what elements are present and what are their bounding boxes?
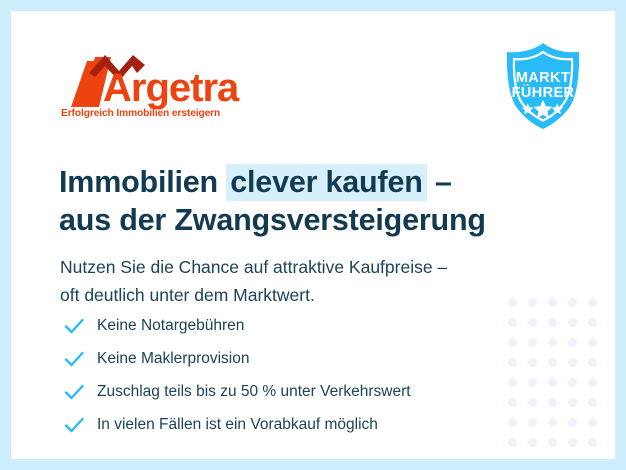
- decorative-dot: [508, 418, 517, 427]
- decorative-dot: [548, 438, 557, 447]
- decorative-dot: [528, 298, 537, 307]
- decorative-dot: [588, 398, 597, 407]
- decorative-dot: [548, 378, 557, 387]
- decorative-dot: [568, 398, 577, 407]
- decorative-dot: [508, 298, 517, 307]
- subheading: Nutzen Sie die Chance auf attraktive Kau…: [60, 253, 447, 309]
- decorative-dot: [568, 338, 577, 347]
- headline-text-after: –: [427, 165, 452, 199]
- headline-highlight: clever kaufen: [226, 164, 426, 201]
- decorative-dot: [568, 298, 577, 307]
- decorative-dot: [508, 358, 517, 367]
- benefit-item: Keine Notargebühren: [63, 309, 411, 342]
- decorative-dot: [588, 438, 597, 447]
- dot-grid-decoration: [503, 293, 603, 453]
- decorative-dot: [528, 438, 537, 447]
- decorative-dot: [568, 358, 577, 367]
- market-leader-badge[interactable]: MARKT FÜHRER: [497, 40, 589, 132]
- benefit-item: Zuschlag teils bis zu 50 % unter Verkehr…: [63, 375, 411, 408]
- headline: Immobilien clever kaufen – aus der Zwang…: [59, 163, 486, 239]
- decorative-dot: [508, 338, 517, 347]
- decorative-dot: [568, 318, 577, 327]
- benefit-item: Keine Maklerprovision: [63, 342, 411, 375]
- benefit-label: In vielen Fällen ist ein Vorabkauf mögli…: [97, 416, 378, 434]
- check-icon: [63, 315, 85, 337]
- decorative-dot: [548, 398, 557, 407]
- argetra-logo-icon: Argetra Erfolgreich Immobilien ersteiger…: [59, 49, 259, 121]
- decorative-dot: [588, 418, 597, 427]
- decorative-dot: [508, 438, 517, 447]
- svg-text:Argetra: Argetra: [103, 66, 240, 110]
- decorative-dot: [528, 378, 537, 387]
- decorative-dot: [528, 398, 537, 407]
- decorative-dot: [548, 338, 557, 347]
- decorative-dot: [588, 298, 597, 307]
- benefit-label: Keine Notargebühren: [97, 317, 244, 335]
- decorative-dot: [588, 378, 597, 387]
- decorative-dot: [568, 418, 577, 427]
- svg-text:Erfolgreich Immobilien ersteig: Erfolgreich Immobilien ersteigern: [61, 108, 220, 119]
- headline-line-2: aus der Zwangsversteigerung: [59, 201, 486, 239]
- benefit-label: Zuschlag teils bis zu 50 % unter Verkehr…: [97, 383, 411, 401]
- decorative-dot: [588, 358, 597, 367]
- svg-text:FÜHRER: FÜHRER: [512, 84, 575, 101]
- check-icon: [63, 381, 85, 403]
- decorative-dot: [568, 378, 577, 387]
- decorative-dot: [568, 438, 577, 447]
- decorative-dot: [508, 398, 517, 407]
- decorative-dot: [528, 338, 537, 347]
- subheading-line-1: Nutzen Sie die Chance auf attraktive Kau…: [60, 253, 447, 281]
- check-icon: [63, 348, 85, 370]
- decorative-dot: [548, 298, 557, 307]
- decorative-dot: [528, 318, 537, 327]
- check-icon: [63, 414, 85, 436]
- shield-badge-icon: MARKT FÜHRER: [497, 40, 589, 132]
- decorative-dot: [588, 338, 597, 347]
- banner-content-area: Argetra Erfolgreich Immobilien ersteiger…: [11, 11, 615, 459]
- benefits-list: Keine NotargebührenKeine Maklerprovision…: [63, 309, 411, 441]
- svg-text:MARKT: MARKT: [516, 70, 570, 86]
- promo-banner: Argetra Erfolgreich Immobilien ersteiger…: [0, 0, 626, 470]
- headline-line-1: Immobilien clever kaufen –: [59, 163, 486, 201]
- decorative-dot: [548, 358, 557, 367]
- decorative-dot: [588, 318, 597, 327]
- headline-text-before: Immobilien: [59, 165, 226, 199]
- argetra-logo[interactable]: Argetra Erfolgreich Immobilien ersteiger…: [59, 49, 259, 121]
- subheading-line-2: oft deutlich unter dem Marktwert.: [60, 281, 447, 309]
- decorative-dot: [548, 418, 557, 427]
- decorative-dot: [528, 418, 537, 427]
- decorative-dot: [548, 318, 557, 327]
- decorative-dot: [528, 358, 537, 367]
- benefit-label: Keine Maklerprovision: [97, 350, 250, 368]
- benefit-item: In vielen Fällen ist ein Vorabkauf mögli…: [63, 408, 411, 441]
- decorative-dot: [508, 378, 517, 387]
- decorative-dot: [508, 318, 517, 327]
